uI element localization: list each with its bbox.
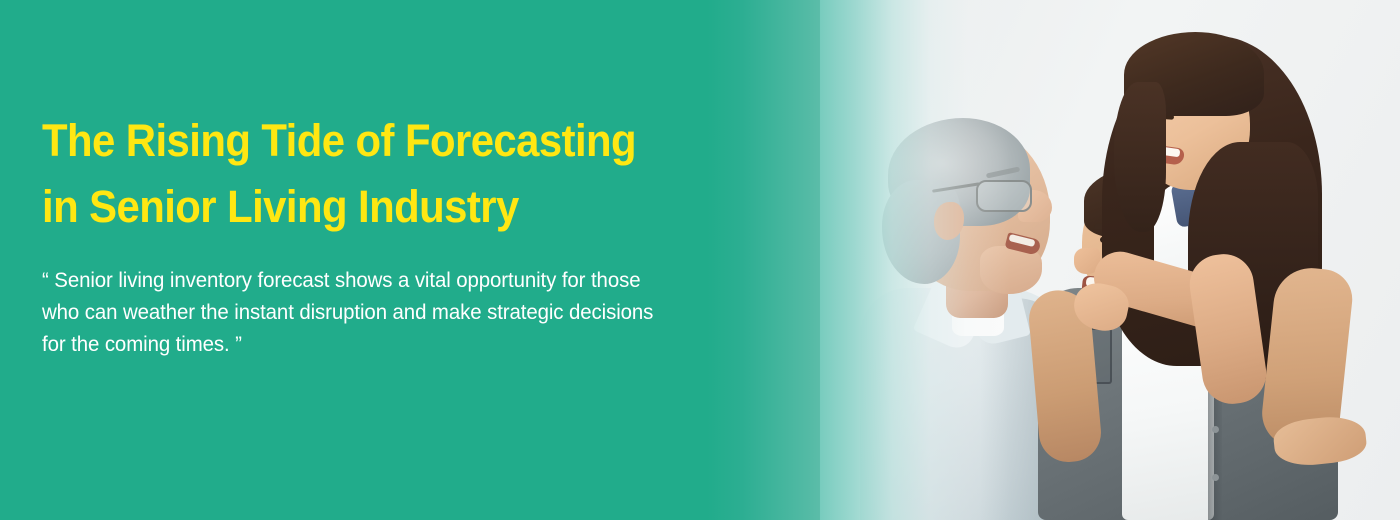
girl-hair-side bbox=[1114, 82, 1166, 232]
banner-quote: “ Senior living inventory forecast shows… bbox=[42, 264, 669, 360]
family-photo bbox=[820, 0, 1400, 520]
quote-close-mark: ” bbox=[235, 332, 242, 356]
father-shirt-button bbox=[1212, 426, 1219, 433]
father-shirt-button bbox=[1212, 474, 1219, 481]
girl-figure bbox=[1068, 22, 1368, 382]
marketing-banner: The Rising Tide of Forecasting in Senior… bbox=[0, 0, 1400, 520]
elderly-man-glasses-lens bbox=[976, 180, 1032, 212]
banner-text-block: The Rising Tide of Forecasting in Senior… bbox=[42, 108, 702, 360]
quote-line-1: Senior living inventory forecast shows a… bbox=[54, 268, 556, 292]
headline-line-1: The Rising Tide of Forecasting bbox=[42, 108, 656, 174]
headline-line-2: in Senior Living Industry bbox=[42, 174, 656, 240]
quote-open-mark: “ bbox=[42, 268, 49, 292]
